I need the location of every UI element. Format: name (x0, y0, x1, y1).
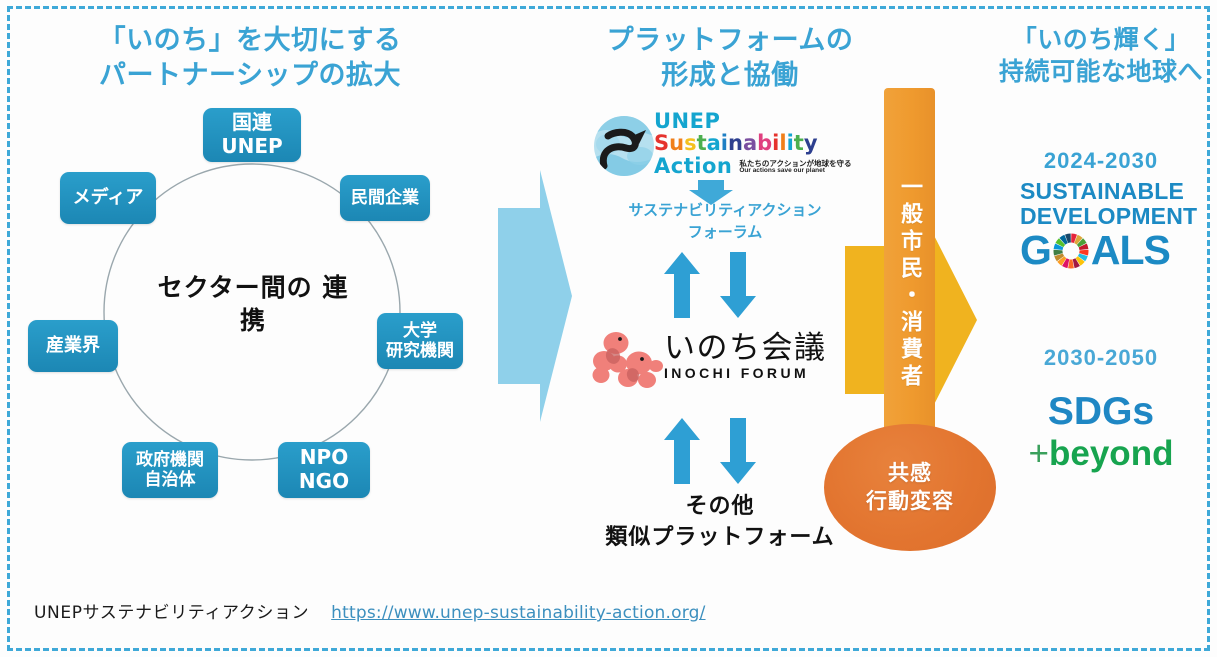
inochi-logo-jp: いのち会議 (664, 332, 827, 365)
beyond-label: beyond (1049, 434, 1173, 473)
globe-icon (592, 114, 656, 178)
sdg-logo-goals-row: G ALS (1020, 230, 1185, 271)
sector-partnership-circle: 国連 UNEP 民間企業 大学 研究機関 NPO NGO 政府機関 自治 (0, 0, 500, 600)
right-header-line2: 持続可能な地球へ (985, 56, 1217, 88)
center-column-header: プラットフォームの 形成と協働 (585, 24, 875, 93)
right-header-line1: 「いのち輝く」 (985, 24, 1217, 56)
beyond-row: +beyond (985, 434, 1217, 473)
plus-sign: + (1029, 434, 1049, 473)
sector-node-un-unep-line2: UNEP (221, 135, 282, 159)
other-platform-line1: その他 (685, 494, 754, 519)
sdgs-plus-beyond: SDGs +beyond (985, 390, 1217, 473)
sdg-logo-letter-g: G (1020, 230, 1051, 271)
unep-logo-action-row: Action 私たちのアクションが地球を守る Our actions save … (654, 155, 851, 177)
sdg-logo-line1: SUSTAINABLE (1020, 180, 1185, 203)
sector-node-university[interactable]: 大学 研究機関 (377, 313, 463, 369)
sdg-colour-wheel-icon (1052, 232, 1090, 270)
sector-node-media-line1: メディア (73, 187, 144, 208)
sector-node-government-line1: 政府機関 (136, 450, 204, 470)
empathy-line2: 行動変容 (866, 489, 954, 513)
general-citizens-label: 一般市民・消費者 (898, 175, 921, 391)
sector-node-government[interactable]: 政府機関 自治体 (122, 442, 218, 498)
unep-logo-word-sustainability: Sustainability (654, 132, 851, 154)
center-header-line1: プラットフォームの (585, 24, 875, 59)
inochi-wordmark: いのち会議 INOCHI FORUM (664, 332, 827, 381)
unep-logo-word-unep: UNEP (654, 110, 851, 132)
right-column-header: 「いのち輝く」 持続可能な地球へ (985, 24, 1217, 88)
empathy-line1: 共感 (888, 461, 932, 485)
sector-node-un-unep[interactable]: 国連 UNEP (203, 108, 301, 162)
sector-node-npo-ngo-line2: NGO (299, 470, 349, 494)
sector-node-university-line1: 大学 (386, 321, 454, 341)
sector-node-npo-ngo-line1: NPO (299, 446, 349, 470)
arrow-pair-forum-inochi (660, 252, 770, 320)
center-header-line2: 形成と協働 (585, 59, 875, 94)
diagram-canvas: 「いのち」を大切にする パートナーシップの拡大 プラットフォームの 形成と協働 … (0, 0, 1217, 657)
arrow-down-icon (720, 252, 756, 318)
transition-chevron-arrow (488, 168, 580, 424)
period-2024-2030: 2024-2030 (985, 148, 1217, 174)
forum-label-line2: フォーラム (688, 223, 763, 241)
unep-sustainability-action-logo: UNEP Sustainability Action 私たちのアクションが地球を… (592, 112, 852, 182)
inochi-logo-en: INOCHI FORUM (664, 366, 827, 381)
sdgs-label: SDGs (985, 390, 1217, 434)
other-platform-line2: 類似プラットフォーム (605, 525, 834, 550)
general-citizens-band: 一般市民・消費者 (884, 88, 935, 478)
footer: UNEPサステナビリティアクション https://www.unep-susta… (34, 598, 706, 623)
unep-logo-tagline-en: Our actions save our planet (739, 168, 851, 175)
unep-logo-tagline: 私たちのアクションが地球を守る Our actions save our pla… (739, 160, 851, 175)
sector-node-university-line2: 研究機関 (386, 341, 454, 361)
sector-node-npo-ngo[interactable]: NPO NGO (278, 442, 370, 498)
arrow-down-icon (720, 418, 756, 484)
circle-center-label: セクター間の 連携 (148, 272, 358, 337)
empathy-behavior-change-label: 共感 行動変容 (866, 460, 954, 515)
sdg-logo: SUSTAINABLE DEVELOPMENT G ALS (1020, 180, 1185, 270)
sector-node-industry-line1: 産業界 (46, 335, 100, 356)
period-2030-2050: 2030-2050 (985, 345, 1217, 371)
forum-label-line1: サステナビリティアクション (628, 201, 821, 219)
sector-node-government-line2: 自治体 (136, 470, 204, 490)
sector-node-un-unep-line1: 国連 (221, 111, 282, 135)
inochi-mascot-icon (592, 330, 666, 392)
sector-node-private-company[interactable]: 民間企業 (340, 175, 430, 221)
unep-logo-word-action: Action (654, 155, 732, 177)
sustainability-action-forum-label: サステナビリティアクション フォーラム (600, 200, 850, 244)
footer-url-link[interactable]: https://www.unep-sustainability-action.o… (331, 603, 705, 623)
empathy-behavior-change-bubble: 共感 行動変容 (824, 424, 996, 551)
unep-logo-wordmark: UNEP Sustainability Action 私たちのアクションが地球を… (654, 110, 851, 177)
sector-node-private-company-line1: 民間企業 (351, 188, 419, 208)
footer-label: UNEPサステナビリティアクション (34, 598, 309, 623)
arrow-pair-inochi-other (660, 418, 770, 486)
sdg-logo-line2: DEVELOPMENT (1020, 205, 1185, 228)
arrow-up-icon (664, 418, 700, 484)
circle-center-label-line1: セクター間の (158, 273, 313, 302)
sdg-logo-letters-als: ALS (1091, 230, 1170, 271)
inochi-forum-logo: いのち会議 INOCHI FORUM (592, 330, 832, 396)
arrow-up-icon (664, 252, 700, 318)
sector-node-media[interactable]: メディア (60, 172, 156, 224)
sector-node-industry[interactable]: 産業界 (28, 320, 118, 372)
